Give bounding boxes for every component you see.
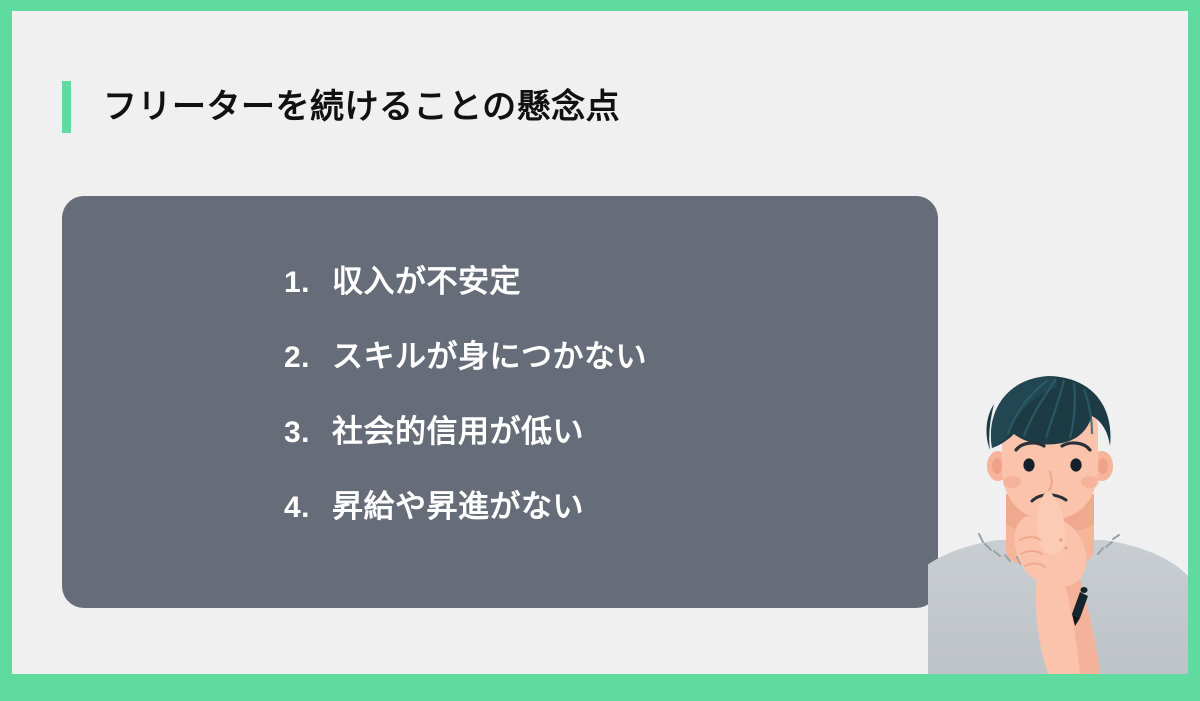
list-item: 4. 昇給や昇進がない — [284, 481, 647, 556]
concerns-card: 1. 収入が不安定 2. スキルが身につかない 3. 社会的信用が低い 4. 昇… — [62, 196, 938, 608]
list-item-label: スキルが身につかない — [332, 331, 647, 376]
slide-frame: フリーターを続けることの懸念点 1. 収入が不安定 2. スキルが身につかない … — [0, 0, 1200, 701]
concerns-list: 1. 収入が不安定 2. スキルが身につかない 3. 社会的信用が低い 4. 昇… — [284, 256, 647, 556]
eye-left — [1023, 458, 1034, 471]
page-title: フリーターを続けることの懸念点 — [103, 90, 620, 124]
slide-canvas: フリーターを続けることの懸念点 1. 収入が不安定 2. スキルが身につかない … — [12, 11, 1188, 674]
list-item-label: 収入が不安定 — [332, 256, 647, 301]
list-item-number: 1. — [284, 266, 332, 300]
thinking-man-illustration — [928, 364, 1188, 674]
list-item-number: 2. — [284, 341, 332, 375]
list-item: 3. 社会的信用が低い — [284, 406, 647, 481]
list-item: 1. 収入が不安定 — [284, 256, 647, 331]
title-accent-bar — [62, 81, 71, 133]
list-item-label: 社会的信用が低い — [332, 406, 647, 451]
list-item-number: 3. — [284, 416, 332, 450]
list-item-label: 昇給や昇進がない — [332, 481, 647, 526]
eye-right — [1070, 458, 1081, 471]
page-title-row: フリーターを続けることの懸念点 — [62, 76, 620, 138]
list-item-number: 4. — [284, 491, 332, 525]
list-item: 2. スキルが身につかない — [284, 331, 647, 406]
